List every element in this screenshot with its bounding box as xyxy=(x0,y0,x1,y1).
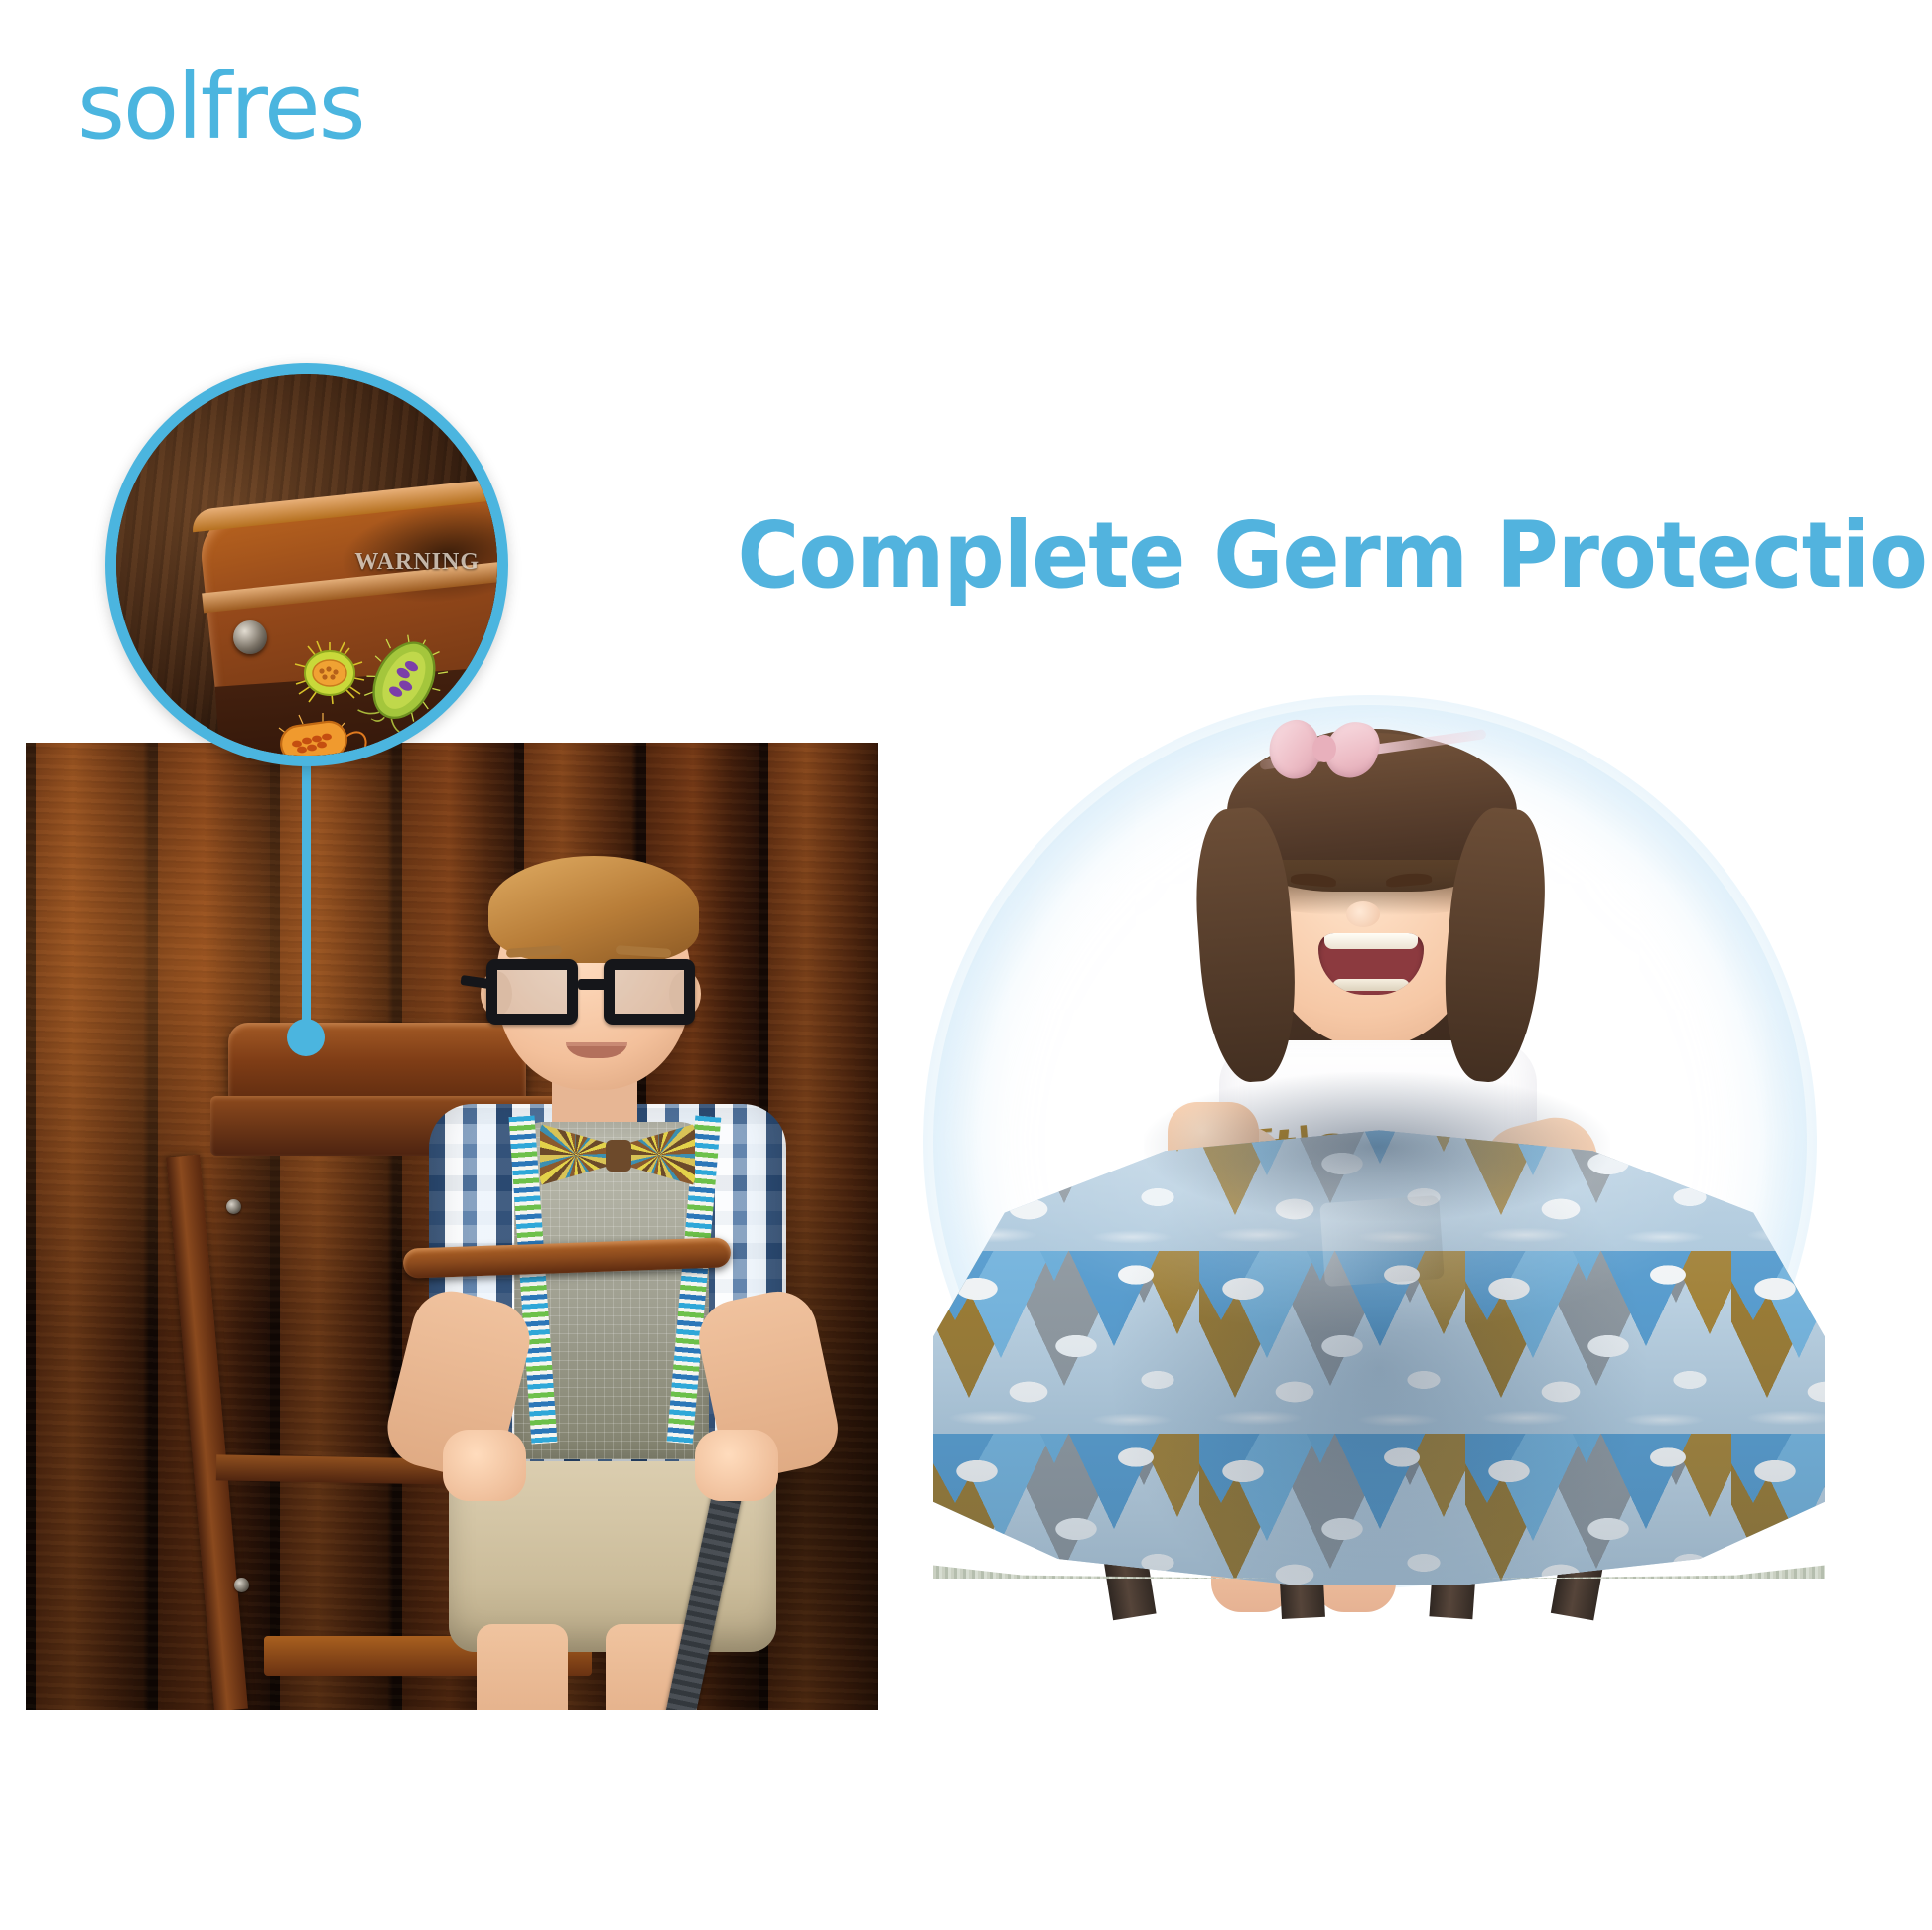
eyeglass-lens xyxy=(486,959,578,1025)
marketing-canvas: solfres Complete Germ Protection xyxy=(0,0,1932,1930)
boy-hand xyxy=(443,1430,526,1501)
boy-leg xyxy=(477,1624,568,1710)
bow-tie-wing xyxy=(540,1118,612,1191)
cover-fabric-fold xyxy=(1319,1195,1445,1287)
chair-screw xyxy=(234,1578,249,1592)
germ-zoom-circle: WARNING xyxy=(105,363,508,766)
boy-eyeglasses xyxy=(483,959,711,1029)
girl-nose xyxy=(1346,901,1380,927)
bow-tie-wing xyxy=(623,1118,695,1191)
pink-hair-bow xyxy=(1269,719,1380,780)
girl-mouth xyxy=(1318,933,1424,995)
boy-bow-tie xyxy=(540,1118,695,1191)
high-chair-cover xyxy=(933,1068,1825,1585)
eyeglass-lens xyxy=(604,959,695,1025)
bow-tie-knot xyxy=(606,1140,631,1172)
magnifier-callout-dot xyxy=(287,1019,325,1056)
boy-hair xyxy=(488,856,699,963)
covered-high-chair-photo: It's my xyxy=(923,695,1837,1608)
brand-logo: solfres xyxy=(77,62,364,153)
chair-screw xyxy=(226,1199,241,1214)
uncovered-high-chair-photo xyxy=(26,743,878,1710)
hair-bow-center xyxy=(1312,735,1336,762)
magnified-chair-screw xyxy=(233,620,267,654)
boy-hand xyxy=(695,1430,778,1501)
eyeglass-bridge xyxy=(578,979,608,990)
magnifier-callout-line xyxy=(302,755,311,1031)
chair-warning-label: WARNING xyxy=(354,549,480,576)
page-title: Complete Germ Protection xyxy=(738,508,1861,605)
